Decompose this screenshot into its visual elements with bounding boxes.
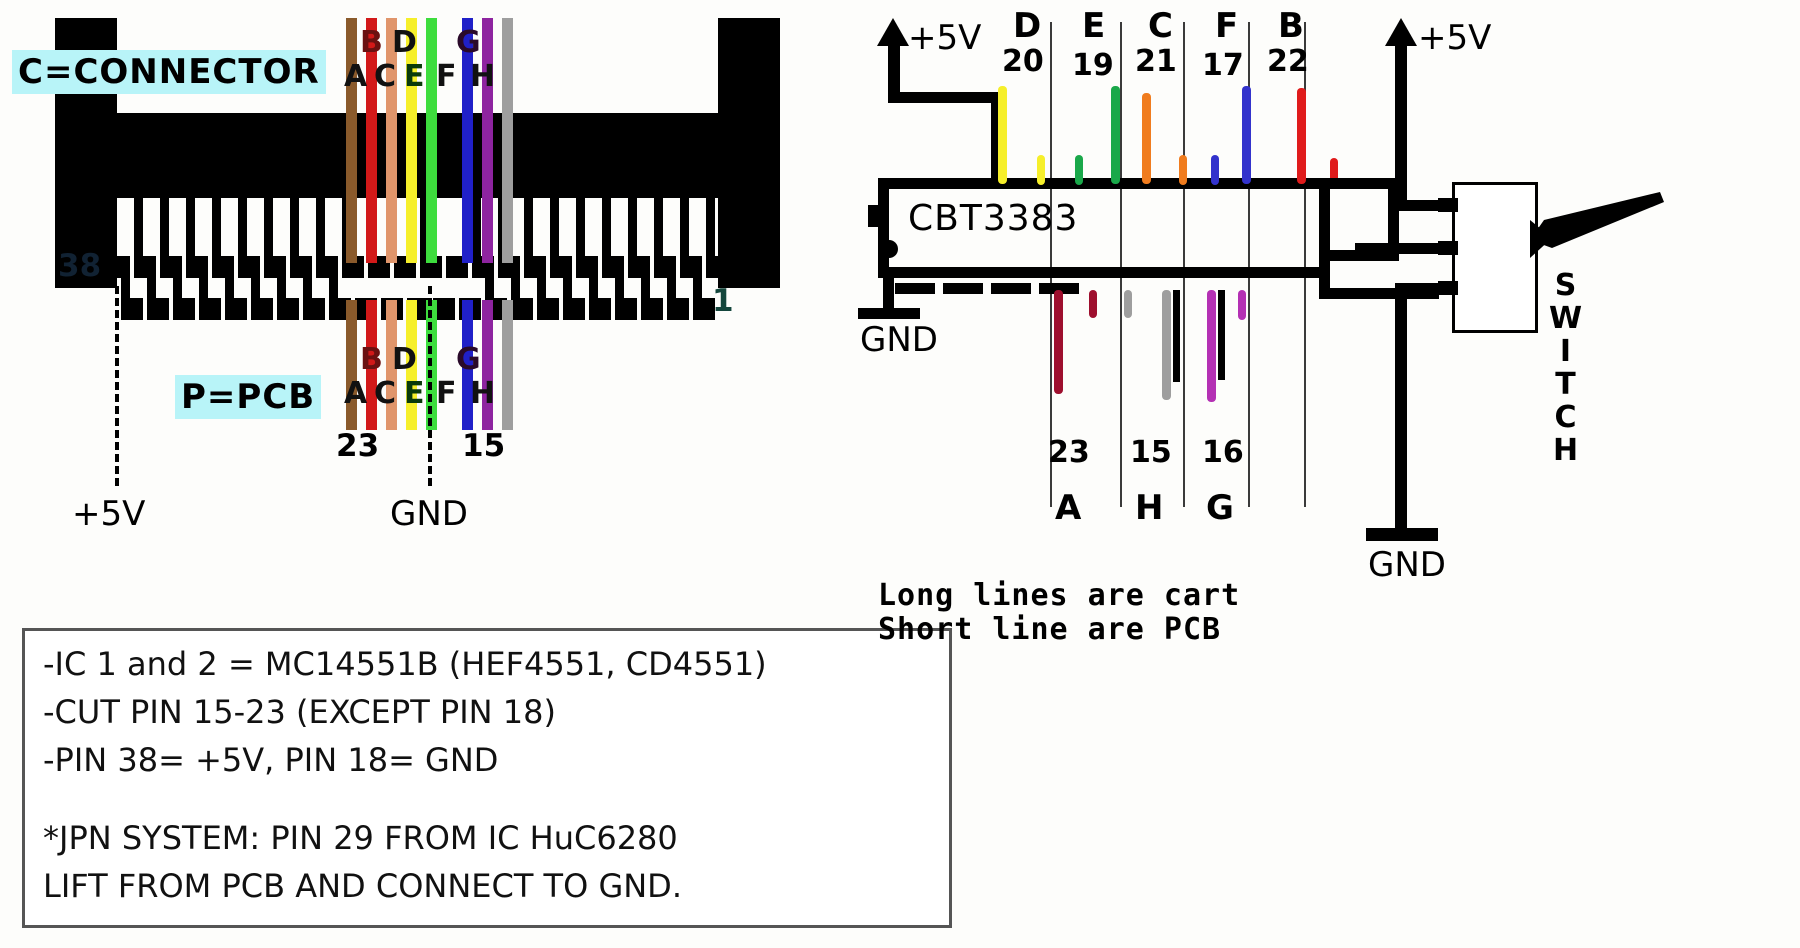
stub-short-A-darkred bbox=[1089, 290, 1097, 318]
pin-number-23: 23 bbox=[336, 428, 379, 464]
stub-short-E-green bbox=[1075, 155, 1083, 185]
chip-notch bbox=[868, 205, 880, 227]
stub-short-C-orange bbox=[1179, 155, 1187, 185]
rail-label-plus5v-right-upper: +5V bbox=[908, 18, 981, 58]
column-pin-19: 19 bbox=[1072, 48, 1114, 83]
route-to-switch-mid bbox=[1355, 243, 1450, 254]
switch-terminal-3 bbox=[1438, 281, 1458, 295]
chip-pin1-dot bbox=[880, 240, 898, 258]
stub-short-H-gray bbox=[1124, 290, 1132, 318]
stub-long-A-darkred bbox=[1054, 290, 1063, 394]
chip-pad-2 bbox=[943, 283, 983, 294]
wire-E-connector bbox=[426, 18, 437, 263]
column-rule-3 bbox=[1183, 22, 1185, 507]
wire-label-top-B: B bbox=[360, 28, 383, 58]
dashed-line-plus5v bbox=[115, 286, 119, 486]
wire-label-bottom-H: H bbox=[470, 379, 495, 409]
column-header-C: C bbox=[1148, 6, 1173, 46]
column-pin-15: 15 bbox=[1130, 435, 1172, 470]
column-footer-H: H bbox=[1135, 488, 1163, 528]
chip-pad-1 bbox=[895, 283, 935, 294]
pin-number-15: 15 bbox=[462, 428, 505, 464]
gnd-right-stem bbox=[1395, 283, 1407, 533]
pin-number-1: 1 bbox=[712, 283, 734, 319]
wire-label-top-A: A bbox=[344, 62, 367, 92]
stub-long-F-blue bbox=[1242, 86, 1251, 184]
wire-label-bottom-C: C bbox=[374, 379, 396, 409]
column-pin-20: 20 bbox=[1002, 44, 1044, 79]
column-header-B: B bbox=[1278, 6, 1304, 46]
switch-lever-icon[interactable] bbox=[1526, 190, 1666, 270]
plus5v-rail-right-vertical bbox=[1395, 42, 1407, 207]
legend-note-line-2: Short line are PCB bbox=[878, 612, 1221, 647]
gnd-right-bar bbox=[1366, 528, 1438, 541]
note-line-4: *JPN SYSTEM: PIN 29 FROM IC HuC6280 bbox=[43, 819, 931, 857]
pin-number-38: 38 bbox=[58, 248, 101, 284]
stub-H-black-trace bbox=[1173, 290, 1180, 382]
legend-connector: C=CONNECTOR bbox=[12, 50, 326, 94]
column-footer-G: G bbox=[1206, 488, 1234, 528]
wire-label-top-D: D bbox=[392, 28, 417, 58]
stub-long-B-red bbox=[1297, 88, 1306, 184]
column-pin-21: 21 bbox=[1135, 44, 1177, 79]
column-footer-A: A bbox=[1055, 488, 1081, 528]
rail-label-plus5v-right: +5V bbox=[1418, 18, 1491, 58]
stub-long-C-orange bbox=[1142, 93, 1151, 184]
legend-note-line-1: Long lines are cart bbox=[878, 578, 1240, 613]
column-header-E: E bbox=[1082, 6, 1105, 46]
stub-short-G-magenta bbox=[1238, 290, 1246, 320]
stub-long-G-magenta bbox=[1207, 290, 1216, 402]
plus5v-rail-left-horizontal bbox=[888, 92, 1002, 103]
wire-label-bottom-E: E bbox=[404, 379, 425, 409]
switch-label: SWITCH bbox=[1548, 268, 1583, 466]
column-header-F: F bbox=[1215, 6, 1238, 46]
chip-left-edge bbox=[878, 178, 889, 278]
rail-label-gnd-right: GND bbox=[1368, 545, 1446, 585]
wire-label-top-H: H bbox=[470, 62, 495, 92]
right-schematic: D E C F B 20 19 21 17 22 +5V CBT3383 GND bbox=[930, 0, 1800, 700]
wire-label-top-G: G bbox=[456, 28, 481, 58]
wire-label-bottom-D: D bbox=[392, 345, 417, 375]
rail-label-gnd-right-upper: GND bbox=[860, 320, 938, 360]
wire-label-top-E: E bbox=[404, 62, 425, 92]
rail-label-plus5v-left: +5V bbox=[72, 494, 145, 534]
chip-pad-3 bbox=[991, 283, 1031, 294]
column-pin-23: 23 bbox=[1048, 435, 1090, 470]
gnd-left-bar bbox=[858, 308, 920, 319]
note-line-1: -IC 1 and 2 = MC14551B (HEF4551, CD4551) bbox=[43, 645, 931, 683]
stub-long-D-yellow bbox=[998, 86, 1007, 184]
legend-pcb: P=PCB bbox=[175, 375, 321, 419]
dashed-line-gnd bbox=[428, 286, 432, 486]
note-line-3: -PIN 38= +5V, PIN 18= GND bbox=[43, 741, 931, 779]
stub-short-D-yellow bbox=[1037, 155, 1045, 185]
wire-A-connector bbox=[346, 18, 357, 263]
stub-long-H-gray bbox=[1162, 290, 1171, 400]
wire-G-connector bbox=[482, 18, 493, 263]
chip-bottom-edge bbox=[878, 267, 1330, 278]
note-line-2: -CUT PIN 15-23 (EXCEPT PIN 18) bbox=[43, 693, 931, 731]
wire-label-bottom-F: F bbox=[436, 379, 457, 409]
wire-label-bottom-B: B bbox=[360, 345, 383, 375]
chip-top-edge bbox=[878, 178, 1330, 189]
wire-H-pcb bbox=[502, 300, 513, 430]
notes-box: -IC 1 and 2 = MC14551B (HEF4551, CD4551)… bbox=[22, 628, 952, 928]
wire-H-connector bbox=[502, 18, 513, 263]
wire-label-bottom-G: G bbox=[456, 345, 481, 375]
switch-terminal-2 bbox=[1438, 241, 1458, 255]
wire-label-top-C: C bbox=[374, 62, 396, 92]
route-top-right-vertical bbox=[1319, 178, 1330, 288]
column-header-D: D bbox=[1013, 6, 1041, 46]
column-pin-22: 22 bbox=[1267, 44, 1309, 79]
left-connector-diagram: C=CONNECTOR P=PCB bbox=[0, 0, 900, 620]
wire-label-bottom-A: A bbox=[344, 379, 367, 409]
note-line-5: LIFT FROM PCB AND CONNECT TO GND. bbox=[43, 867, 931, 905]
stub-G-black-trace bbox=[1218, 290, 1225, 380]
column-pin-16: 16 bbox=[1202, 435, 1244, 470]
route-bus-upper bbox=[1319, 178, 1399, 189]
wire-label-top-F: F bbox=[436, 62, 457, 92]
rail-label-gnd-left: GND bbox=[390, 494, 468, 534]
stub-long-E-green bbox=[1111, 86, 1120, 184]
plus5v-rail-left-vertical bbox=[888, 42, 900, 97]
note-line-blank bbox=[43, 779, 931, 813]
stub-short-F-blue bbox=[1211, 155, 1219, 185]
chip-label: CBT3383 bbox=[908, 198, 1078, 239]
switch-terminal-1 bbox=[1438, 198, 1458, 212]
column-pin-17: 17 bbox=[1202, 48, 1244, 83]
column-rule-2 bbox=[1120, 22, 1122, 507]
